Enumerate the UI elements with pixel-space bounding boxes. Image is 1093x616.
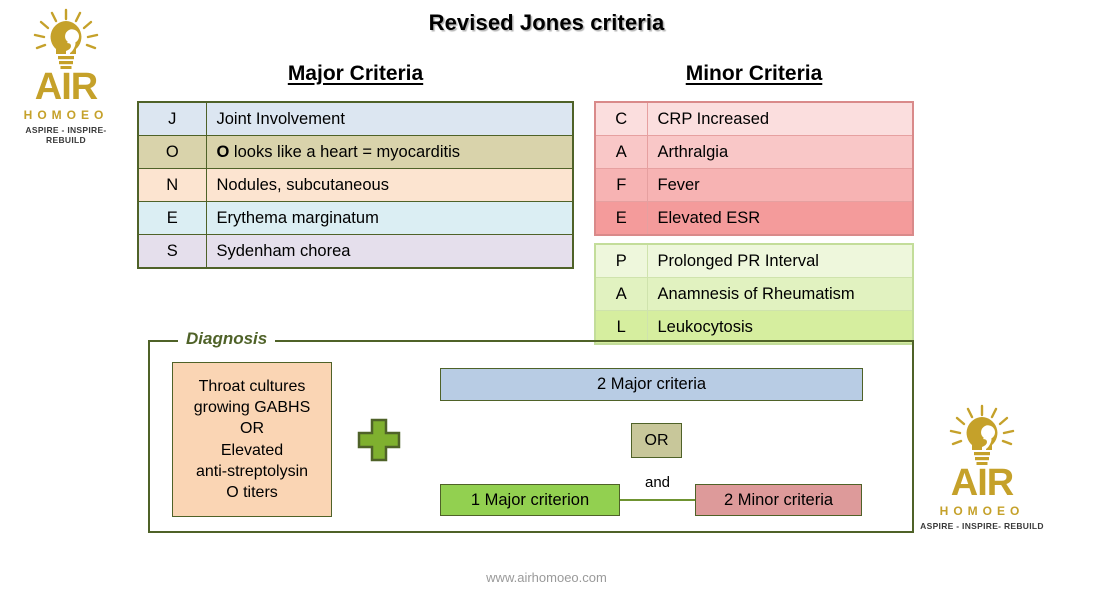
criteria-key-cell: O — [138, 136, 206, 169]
throat-culture-text: Throat culturesgrowing GABHSORElevatedan… — [194, 376, 311, 504]
minor-criteria-red-table: CCRP IncreasedAArthralgiaFFeverEElevated… — [594, 101, 914, 236]
criteria-key-cell: C — [595, 102, 647, 136]
criteria-key-cell: E — [138, 202, 206, 235]
two-major-criteria-box: 2 Major criteria — [440, 368, 863, 401]
criteria-text-cell: Prolonged PR Interval — [647, 244, 913, 278]
criteria-text-cell: CRP Increased — [647, 102, 913, 136]
one-major-criterion-box: 1 Major criterion — [440, 484, 620, 516]
criteria-key-cell: A — [595, 136, 647, 169]
table-row: PProlonged PR Interval — [595, 244, 913, 278]
brand-wordmark: AIR — [912, 464, 1052, 502]
table-row: EErythema marginatum — [138, 202, 573, 235]
lightbulb-logo-icon — [29, 8, 103, 70]
criteria-text-cell: Leukocytosis — [647, 311, 913, 345]
criteria-key-cell: F — [595, 169, 647, 202]
brand-subword: HOMOEO — [6, 109, 126, 122]
criteria-key-cell: L — [595, 311, 647, 345]
plus-icon — [355, 416, 403, 464]
page-title: Revised Jones criteria — [0, 10, 1093, 36]
criteria-key-cell: A — [595, 278, 647, 311]
criteria-key-cell: S — [138, 235, 206, 269]
criteria-text-cell: Anamnesis of Rheumatism — [647, 278, 913, 311]
lightbulb-logo-icon — [945, 404, 1019, 466]
criteria-key-cell: N — [138, 169, 206, 202]
criteria-key-cell: E — [595, 202, 647, 236]
table-row: NNodules, subcutaneous — [138, 169, 573, 202]
criteria-text-cell: O looks like a heart = myocarditis — [206, 136, 573, 169]
brand-logo-top: AIR HOMOEO ASPIRE - INSPIRE- REBUILD — [6, 8, 126, 145]
criteria-text-cell: Joint Involvement — [206, 102, 573, 136]
table-row: AAnamnesis of Rheumatism — [595, 278, 913, 311]
criteria-text-cell: Elevated ESR — [647, 202, 913, 236]
table-row: CCRP Increased — [595, 102, 913, 136]
table-row: OO looks like a heart = myocarditis — [138, 136, 573, 169]
throat-culture-box: Throat culturesgrowing GABHSORElevatedan… — [172, 362, 332, 517]
table-row: EElevated ESR — [595, 202, 913, 236]
or-box: OR — [631, 423, 682, 458]
and-label: and — [620, 474, 695, 491]
table-row: LLeukocytosis — [595, 311, 913, 345]
major-criteria-heading: Major Criteria — [137, 62, 574, 86]
brand-logo-bottom: AIR HOMOEO ASPIRE - INSPIRE- REBUILD — [912, 404, 1052, 532]
diagram-canvas: Revised Jones criteria — [0, 0, 1093, 616]
criteria-text-cell: Fever — [647, 169, 913, 202]
brand-subword: HOMOEO — [912, 505, 1052, 518]
table-row: FFever — [595, 169, 913, 202]
criteria-key-cell: J — [138, 102, 206, 136]
major-criteria-table: JJoint InvolvementOO looks like a heart … — [137, 101, 574, 269]
table-row: AArthralgia — [595, 136, 913, 169]
footer-url: www.airhomoeo.com — [0, 570, 1093, 585]
minor-criteria-heading: Minor Criteria — [594, 62, 914, 86]
table-row: JJoint Involvement — [138, 102, 573, 136]
criteria-text-cell: Sydenham chorea — [206, 235, 573, 269]
table-row: SSydenham chorea — [138, 235, 573, 269]
diagnosis-legend: Diagnosis — [178, 329, 275, 349]
brand-wordmark: AIR — [6, 68, 126, 106]
brand-tagline: ASPIRE - INSPIRE- REBUILD — [912, 522, 1052, 531]
minor-criteria-green-table: PProlonged PR IntervalAAnamnesis of Rheu… — [594, 243, 914, 345]
criteria-text-cell: Erythema marginatum — [206, 202, 573, 235]
brand-tagline: ASPIRE - INSPIRE- REBUILD — [6, 126, 126, 145]
criteria-key-cell: P — [595, 244, 647, 278]
criteria-text-cell: Nodules, subcutaneous — [206, 169, 573, 202]
and-connector-line — [620, 499, 695, 501]
two-minor-criteria-box: 2 Minor criteria — [695, 484, 862, 516]
criteria-text-cell: Arthralgia — [647, 136, 913, 169]
